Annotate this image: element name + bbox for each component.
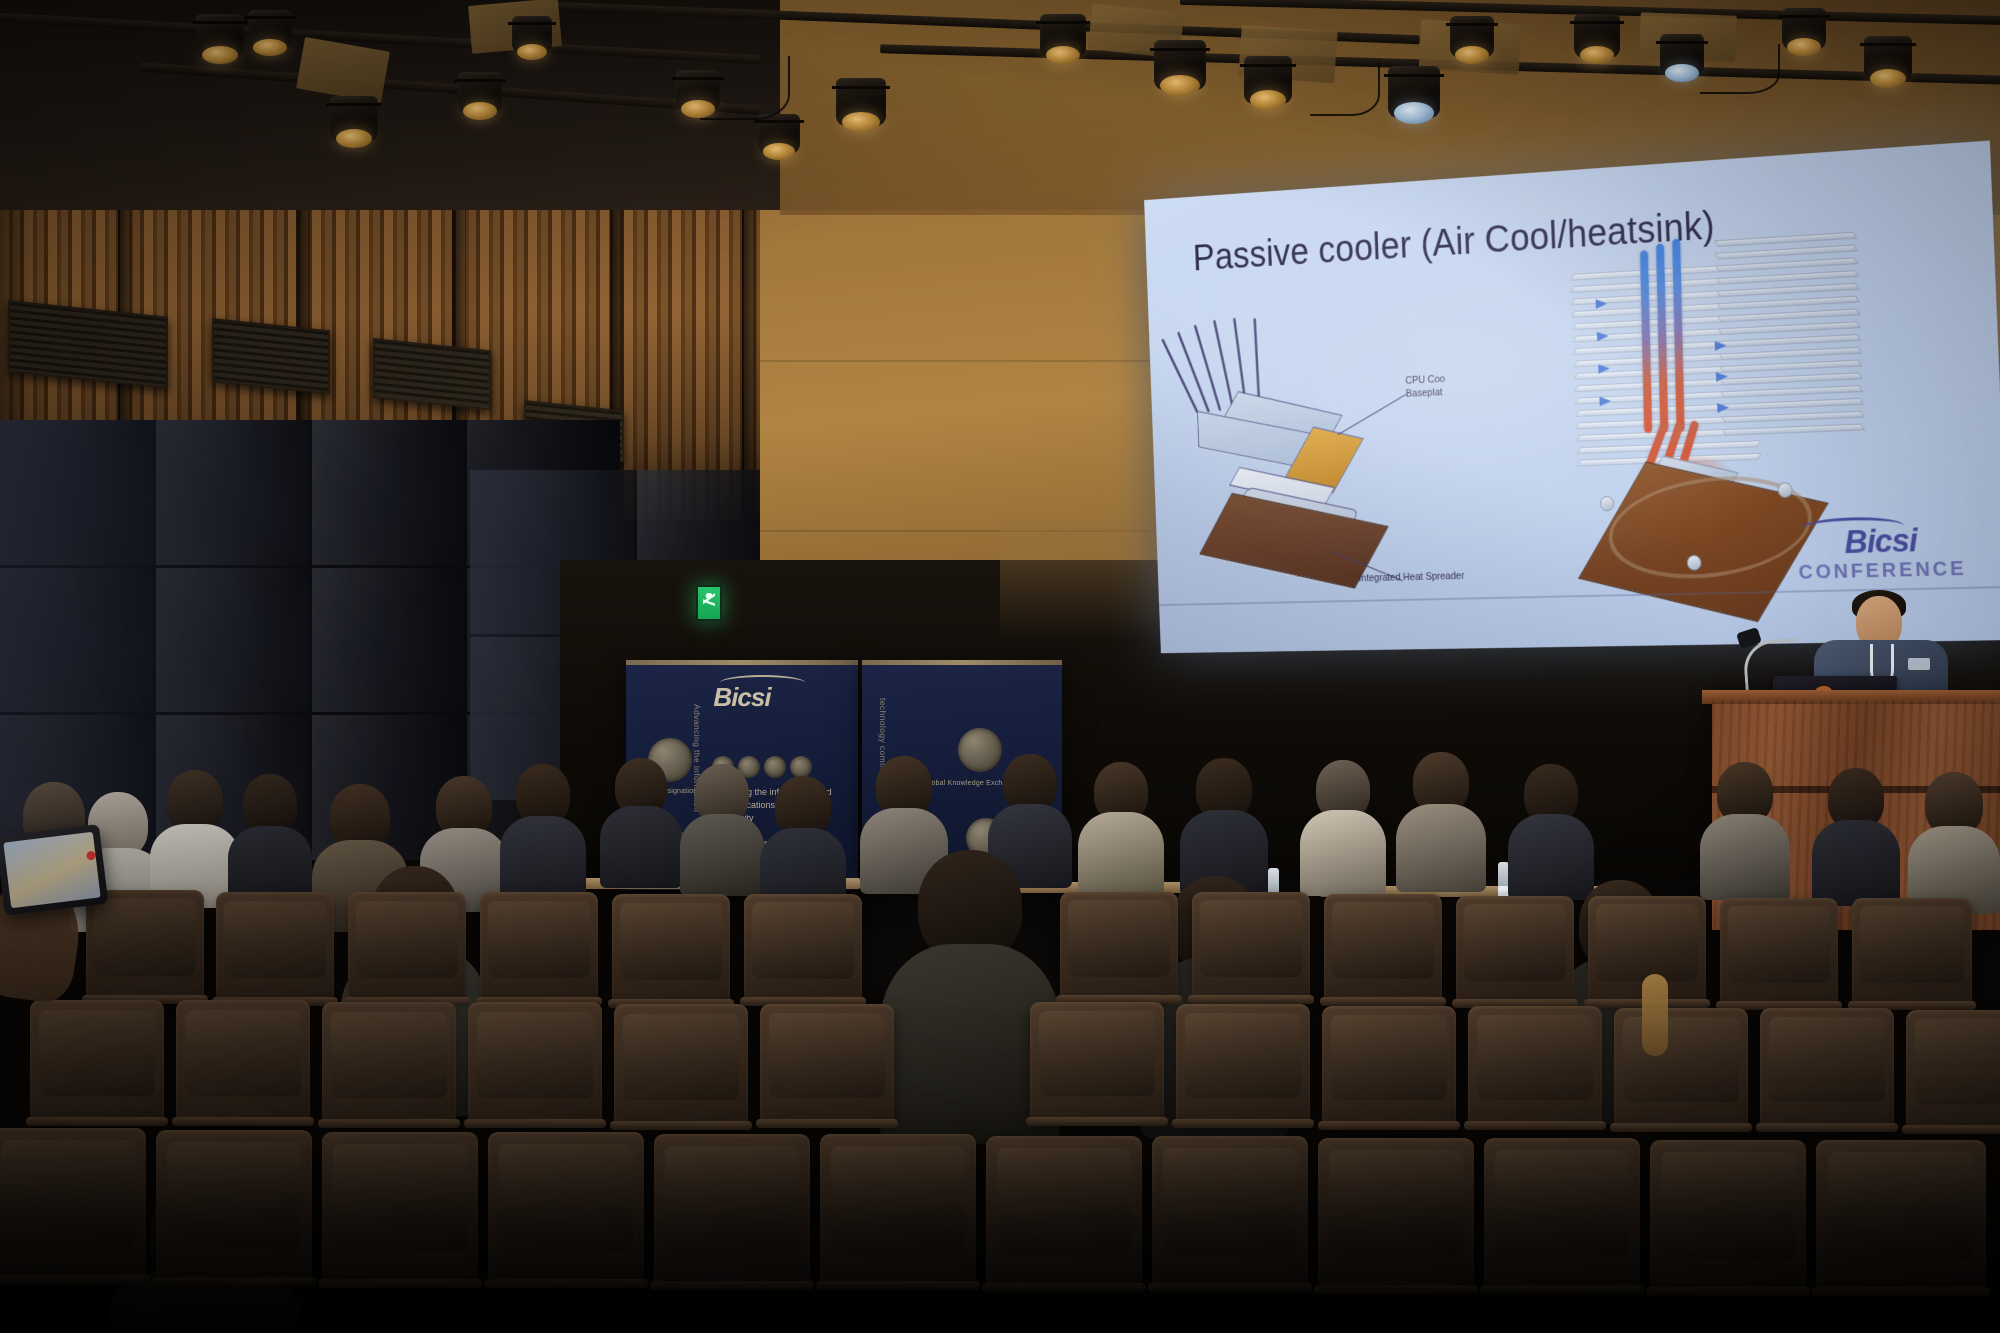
hvac-vent xyxy=(212,318,330,394)
auditorium-chair[interactable] xyxy=(1152,1136,1308,1286)
stage-light xyxy=(196,14,244,58)
audience-person xyxy=(1812,768,1900,898)
auditorium-chair[interactable] xyxy=(1760,1008,1894,1126)
jacket-logo-patch xyxy=(1908,658,1930,670)
person-body xyxy=(1396,804,1486,892)
person-body xyxy=(1700,814,1790,900)
auditorium-chair[interactable] xyxy=(1192,892,1310,998)
auditorium-chair[interactable] xyxy=(1030,1002,1164,1120)
auditorium-chair[interactable] xyxy=(1484,1138,1640,1288)
rigging-cable xyxy=(1700,44,1780,94)
auditorium-scene: Passive cooler (Air Cool/heatsink) xyxy=(0,0,2000,1333)
auditorium-chair[interactable] xyxy=(322,1132,478,1282)
hvac-vent xyxy=(373,338,491,410)
rigging-cable xyxy=(1310,62,1380,116)
person-body xyxy=(500,816,586,900)
stage-light xyxy=(1244,56,1292,104)
stage-light xyxy=(1040,14,1086,58)
person-body xyxy=(1812,820,1900,906)
auditorium-chair[interactable] xyxy=(348,892,466,1000)
chair-armrest xyxy=(1642,974,1668,1056)
audience-person xyxy=(1396,752,1486,884)
person-body xyxy=(680,814,764,896)
audience-person xyxy=(1508,764,1594,892)
stage-light xyxy=(330,96,378,142)
stage-light xyxy=(1154,40,1206,90)
auditorium-chair[interactable] xyxy=(1650,1140,1806,1290)
person-body xyxy=(600,806,682,888)
auditorium-chair[interactable] xyxy=(986,1136,1142,1286)
audience-person xyxy=(1300,760,1386,888)
auditorium-chair[interactable] xyxy=(1720,898,1838,1004)
auditorium-chair[interactable] xyxy=(0,1128,146,1278)
auditorium-chair[interactable] xyxy=(1318,1138,1474,1288)
auditorium-chair[interactable] xyxy=(1852,898,1972,1004)
audience-person xyxy=(1078,762,1164,890)
airflow-arrow xyxy=(1598,364,1610,374)
auditorium-chair[interactable] xyxy=(1906,1010,2000,1128)
auditorium-chair[interactable] xyxy=(1456,896,1574,1002)
rigging-cable xyxy=(700,56,790,120)
auditorium-chair[interactable] xyxy=(156,1130,312,1280)
audience-person xyxy=(1700,762,1790,892)
auditorium-chair[interactable] xyxy=(612,894,730,1002)
audience-person xyxy=(760,776,846,904)
audience-person xyxy=(1180,758,1268,888)
auditorium-chair[interactable] xyxy=(820,1134,976,1284)
running-person-icon xyxy=(703,593,715,613)
airflow-arrow xyxy=(1597,331,1609,341)
airflow-arrow xyxy=(1716,372,1728,382)
stage-light xyxy=(758,114,800,154)
smartphone-recording[interactable] xyxy=(0,824,108,916)
stage-light xyxy=(1574,14,1620,58)
mounting-screw xyxy=(1600,496,1615,512)
conference-wordmark: CONFERENCE xyxy=(1798,558,1967,583)
auditorium-chair[interactable] xyxy=(1614,1008,1748,1126)
auditorium-chair[interactable] xyxy=(654,1134,810,1284)
auditorium-chair[interactable] xyxy=(322,1002,456,1122)
airflow-arrow xyxy=(1715,341,1727,351)
auditorium-chair[interactable] xyxy=(86,890,204,998)
stage-light xyxy=(1782,8,1826,50)
stage-light-cool xyxy=(1388,66,1440,118)
label-line-2: Baseplat xyxy=(1406,387,1443,400)
auditorium-chair[interactable] xyxy=(1176,1004,1310,1122)
auditorium-chair[interactable] xyxy=(1060,892,1178,998)
exploded-cpu-diagram: CPU Coo Baseplat Integrated Heat Spreade… xyxy=(1173,301,1536,593)
auditorium-chair[interactable] xyxy=(488,1132,644,1282)
stage-light xyxy=(836,78,886,126)
network-icon xyxy=(790,756,812,778)
callout-leader-line xyxy=(1338,394,1407,436)
person-body xyxy=(1300,810,1386,896)
banner-logo: Bicsi xyxy=(713,682,770,713)
auditorium-chair[interactable] xyxy=(614,1004,748,1124)
auditorium-chair[interactable] xyxy=(1324,894,1442,1000)
auditorium-chair[interactable] xyxy=(176,1000,310,1120)
stage-light xyxy=(1864,36,1912,82)
auditorium-chair[interactable] xyxy=(760,1004,894,1122)
integrated-heat-spreader-label: Integrated Heat Spreader xyxy=(1358,570,1464,585)
label-line-1: CPU Coo xyxy=(1405,373,1445,386)
cpu-cooler-baseplate-label: CPU Coo Baseplat xyxy=(1405,373,1446,401)
audience-person xyxy=(680,764,764,890)
stage-light xyxy=(458,72,502,114)
phone-viewfinder xyxy=(3,832,100,908)
star-icon xyxy=(764,756,786,778)
audience-person xyxy=(228,774,312,898)
airflow-arrow xyxy=(1717,403,1729,413)
auditorium-chair[interactable] xyxy=(468,1002,602,1122)
projection-screen: Passive cooler (Air Cool/heatsink) xyxy=(1144,140,2000,653)
auditorium-chair[interactable] xyxy=(1816,1140,1986,1290)
stage-light xyxy=(248,10,292,50)
audience-person xyxy=(600,758,682,882)
stage-light xyxy=(1450,16,1494,58)
airflow-arrow xyxy=(1596,299,1608,309)
slide-bicsi-logo: Bicsi CONFERENCE xyxy=(1797,522,1967,583)
emergency-exit-sign xyxy=(696,585,722,621)
audience-person xyxy=(500,764,586,892)
auditorium-chair[interactable] xyxy=(480,892,598,1000)
auditorium-chair[interactable] xyxy=(1468,1006,1602,1124)
auditorium-chair[interactable] xyxy=(216,892,334,1000)
audience-person xyxy=(1908,772,2000,904)
airflow-arrow xyxy=(1599,396,1611,406)
stage-light xyxy=(512,16,552,54)
bicsi-swoosh-icon xyxy=(719,675,805,691)
auditorium-chair[interactable] xyxy=(744,894,862,1000)
auditorium-chair[interactable] xyxy=(1322,1006,1456,1124)
heat-pipe xyxy=(1640,250,1652,433)
audience-person xyxy=(150,770,240,900)
stage-light-cool xyxy=(1660,34,1704,76)
auditorium-chair[interactable] xyxy=(30,1000,164,1120)
